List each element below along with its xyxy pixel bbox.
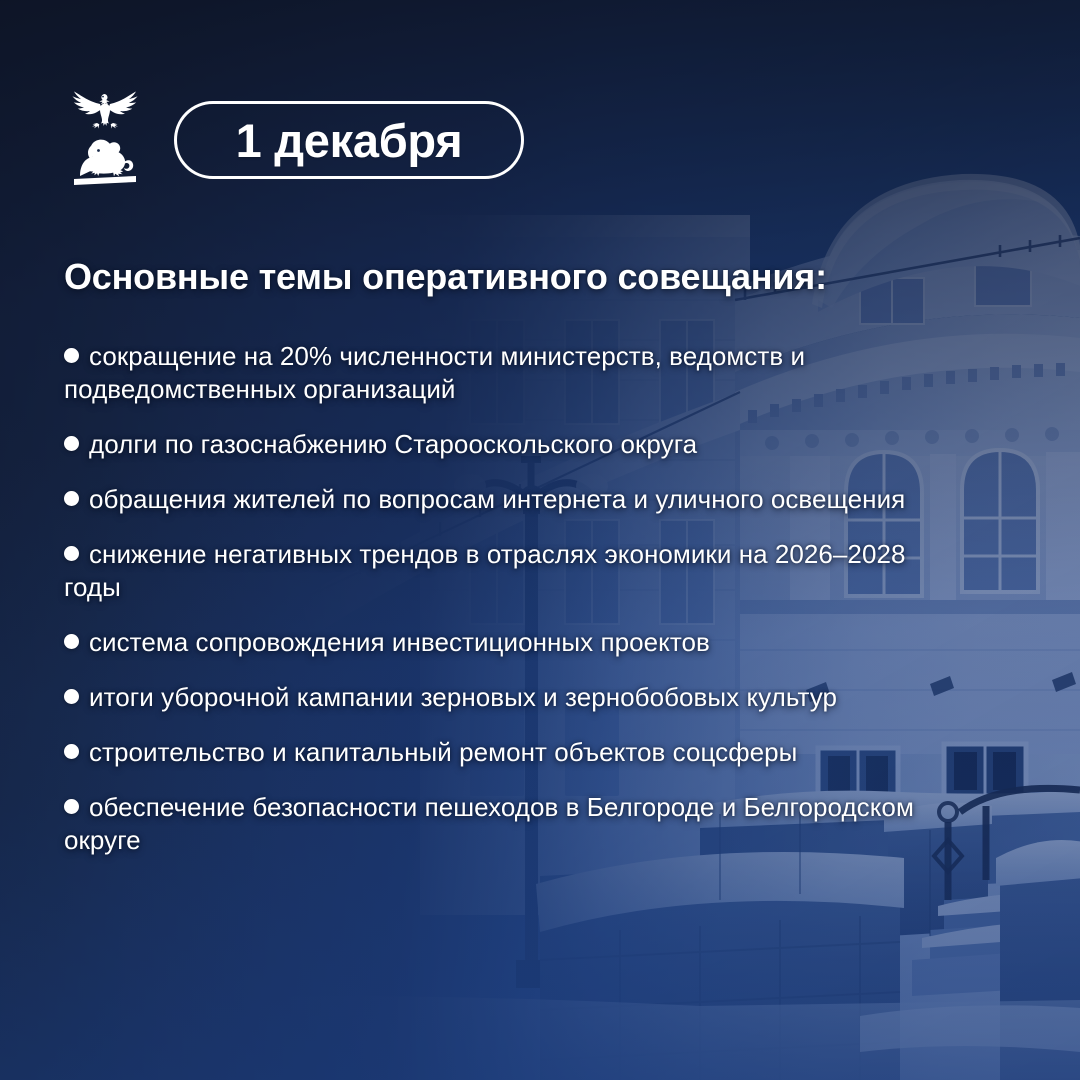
belgorod-coat-of-arms-icon xyxy=(64,84,146,192)
list-item: система сопровождения инвестиционных про… xyxy=(64,626,924,659)
poster-canvas: 1 декабря Основные темы оперативного сов… xyxy=(0,0,1080,1080)
list-item-label: система сопровождения инвестиционных про… xyxy=(89,627,710,657)
bullet-dot-icon xyxy=(64,689,79,704)
list-item: снижение негативных трендов в отраслях э… xyxy=(64,538,924,604)
list-item: строительство и капитальный ремонт объек… xyxy=(64,736,924,769)
list-item: сокращение на 20% численности министерст… xyxy=(64,340,924,406)
bullet-dot-icon xyxy=(64,436,79,451)
page-title: Основные темы оперативного совещания: xyxy=(64,256,964,298)
list-item-label: обращения жителей по вопросам интернета … xyxy=(89,484,905,514)
date-badge-label: 1 декабря xyxy=(236,117,463,164)
poster-content: 1 декабря Основные темы оперативного сов… xyxy=(0,0,1080,1080)
bullet-dot-icon xyxy=(64,634,79,649)
list-item-label: долги по газоснабжению Старооскольского … xyxy=(89,429,697,459)
list-item-label: обеспечение безопасности пешеходов в Бел… xyxy=(64,792,914,855)
bullet-dot-icon xyxy=(64,348,79,363)
bullet-dot-icon xyxy=(64,546,79,561)
list-item: итоги уборочной кампании зерновых и зерн… xyxy=(64,681,924,714)
list-item-label: сокращение на 20% численности министерст… xyxy=(64,341,805,404)
date-badge: 1 декабря xyxy=(174,101,524,179)
bullet-dot-icon xyxy=(64,491,79,506)
bullet-dot-icon xyxy=(64,799,79,814)
list-item: обеспечение безопасности пешеходов в Бел… xyxy=(64,791,924,857)
list-item-label: итоги уборочной кампании зерновых и зерн… xyxy=(89,682,837,712)
bullet-dot-icon xyxy=(64,744,79,759)
list-item: долги по газоснабжению Старооскольского … xyxy=(64,428,924,461)
list-item: обращения жителей по вопросам интернета … xyxy=(64,483,924,516)
poster-header: 1 декабря xyxy=(64,84,524,192)
list-item-label: снижение негативных трендов в отраслях э… xyxy=(64,539,905,602)
list-item-label: строительство и капитальный ремонт объек… xyxy=(89,737,797,767)
topics-list: сокращение на 20% численности министерст… xyxy=(64,340,924,879)
